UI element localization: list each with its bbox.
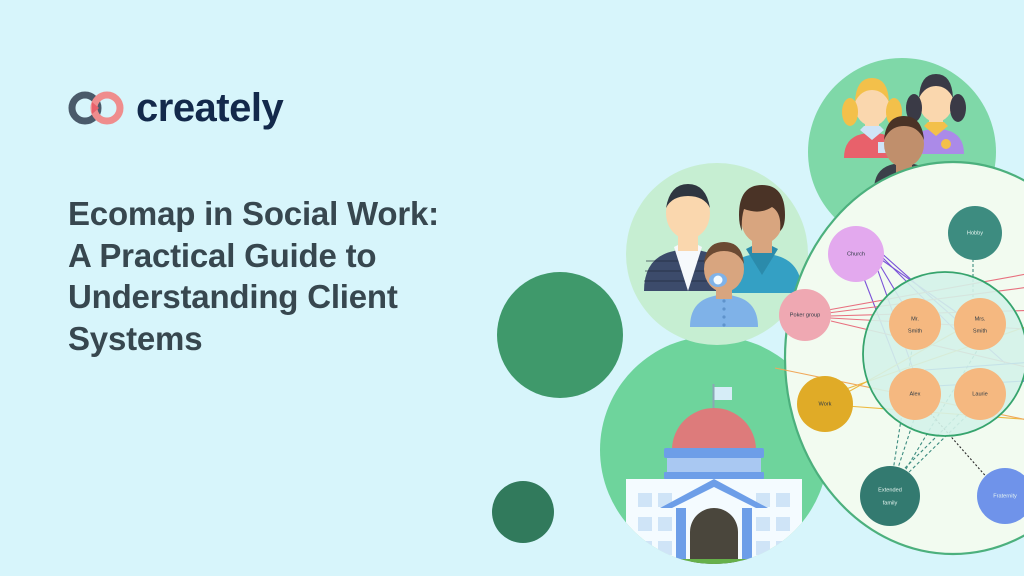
node-label-poker-group: Poker group [790, 312, 820, 318]
household-circle [863, 272, 1024, 436]
infinity-rings-icon [68, 91, 126, 125]
node-label-church: Church [847, 251, 865, 257]
node-label-alex: Alex [910, 391, 921, 397]
node-label-extended-family-line2: family [883, 500, 898, 506]
node-extended-family[interactable]: Extended family [860, 466, 920, 526]
title-line-2: A Practical Guide to [68, 235, 508, 277]
node-poker-group[interactable]: Poker group [779, 289, 831, 341]
node-laurie[interactable]: Laurie [954, 368, 1006, 420]
slide-canvas: creately Ecomap in Social Work: A Practi… [0, 0, 1024, 576]
node-label-extended-family-line1: Extended [878, 487, 902, 493]
node-label-hobby: Hobby [967, 230, 983, 236]
node-label-work: Work [819, 401, 832, 407]
node-work[interactable]: Work [797, 376, 853, 432]
node-label-mrs-smith-line2: Smith [973, 328, 987, 334]
node-church[interactable]: Church [828, 226, 884, 282]
node-mrs-smith[interactable]: Mrs. Smith [954, 298, 1006, 350]
title-line-1: Ecomap in Social Work: [68, 193, 508, 235]
page-title: Ecomap in Social Work: A Practical Guide… [68, 193, 508, 359]
decorative-circle-small [492, 481, 554, 543]
node-label-mr-smith-line2: Smith [908, 328, 922, 334]
title-line-4: Systems [68, 318, 508, 360]
node-hobby[interactable]: Hobby [948, 206, 1002, 260]
creately-logo[interactable]: creately [68, 88, 283, 128]
node-label-mr-smith-line1: Mr. [911, 316, 919, 322]
decorative-circle-large [497, 272, 623, 398]
node-label-mrs-smith-line1: Mrs. [975, 316, 986, 322]
node-mr-smith[interactable]: Mr. Smith [889, 298, 941, 350]
node-label-fraternity: Fraternity [993, 493, 1017, 499]
node-alex[interactable]: Alex [889, 368, 941, 420]
node-label-laurie: Laurie [972, 391, 988, 397]
ecomap-diagram[interactable]: Church Hobby Poker group Work Extended [775, 158, 1024, 570]
title-line-3: Understanding Client [68, 276, 508, 318]
creately-wordmark: creately [136, 88, 283, 128]
